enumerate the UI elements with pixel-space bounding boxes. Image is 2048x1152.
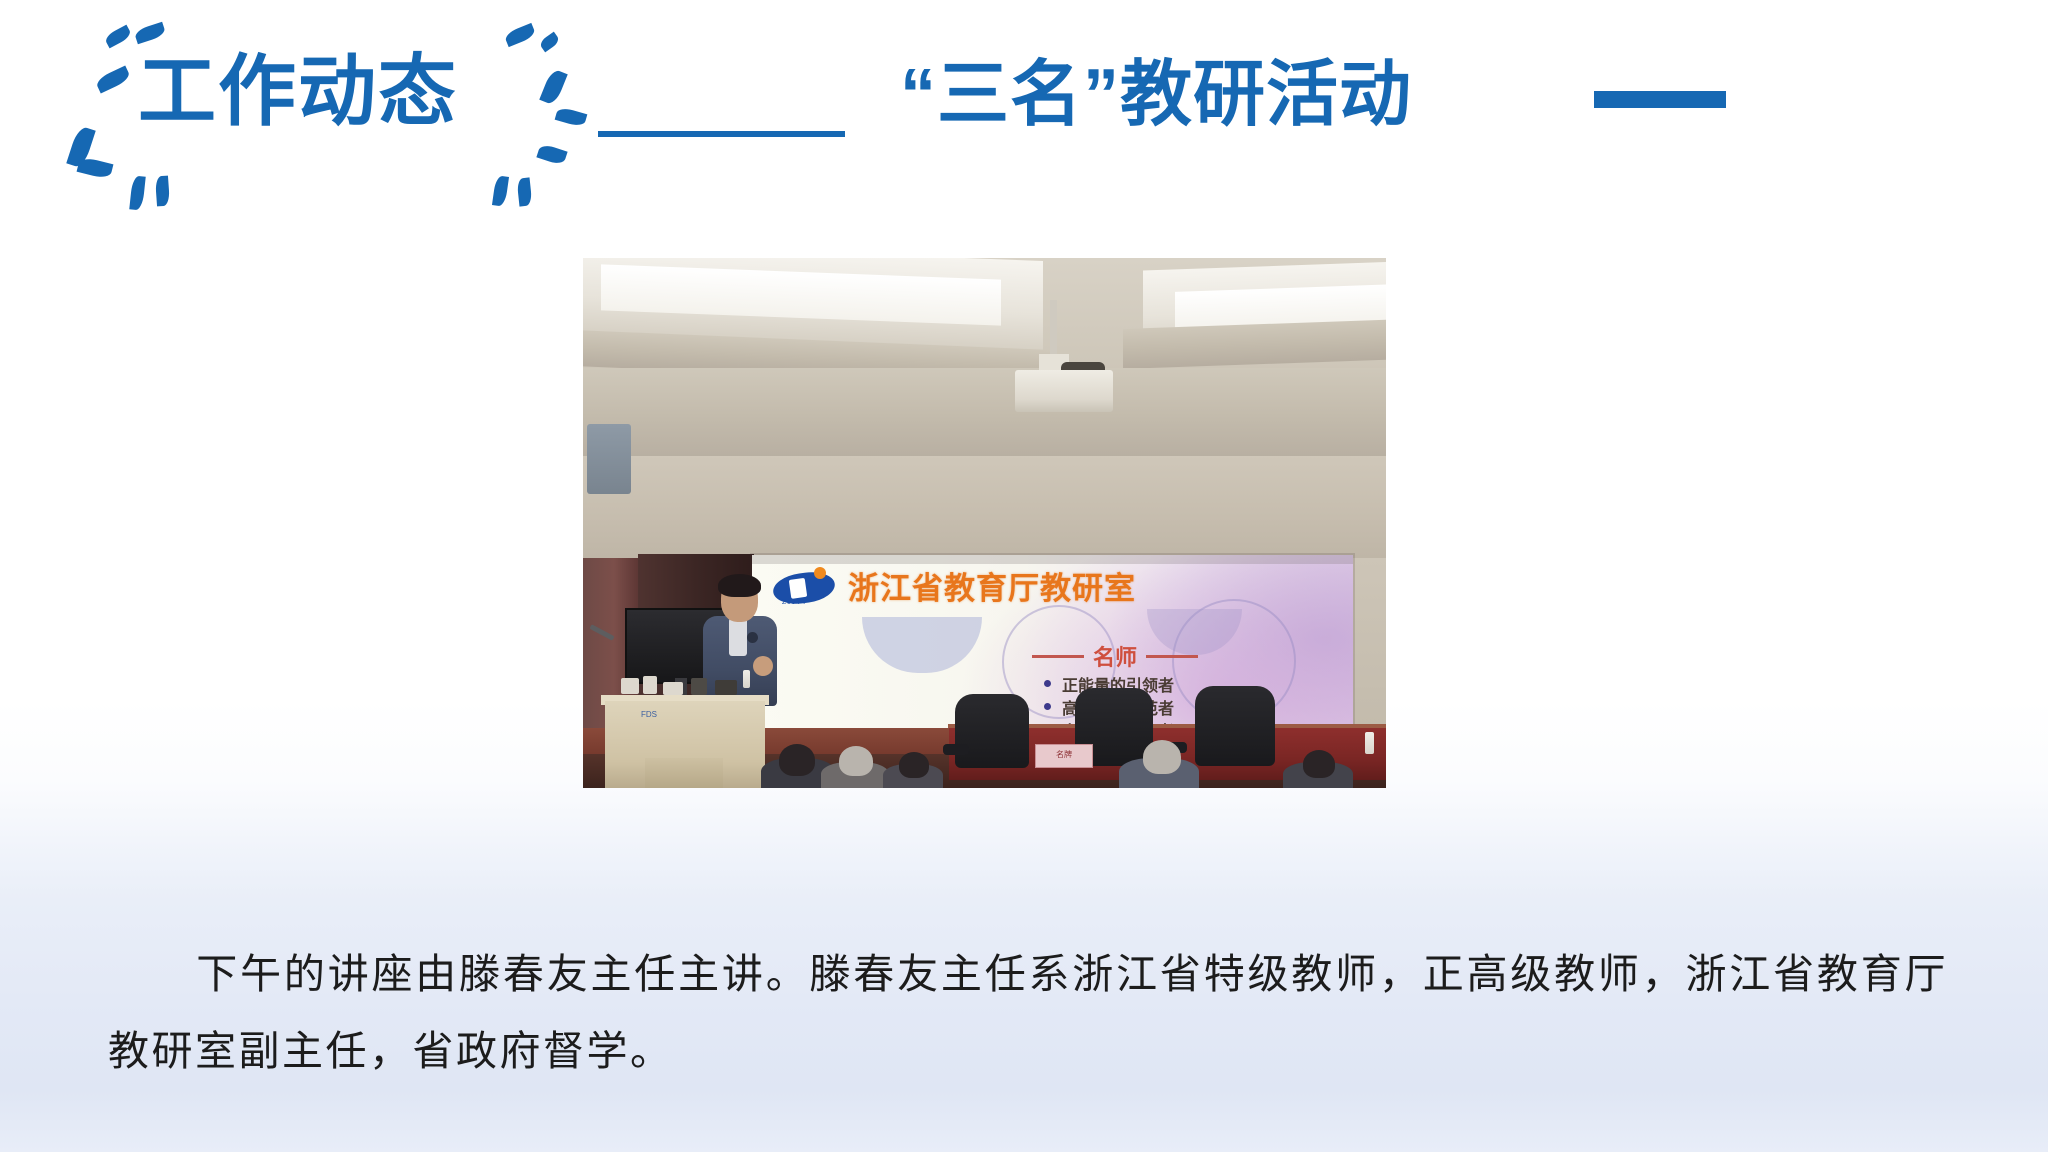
- slide-arc: [862, 617, 982, 673]
- presenter-hand: [753, 656, 773, 676]
- slide-title-rule-left: [1032, 655, 1084, 658]
- chair: [955, 694, 1029, 768]
- title-rule: [598, 131, 845, 137]
- audience-member: [899, 752, 929, 778]
- nameplate-text: 名牌: [1036, 749, 1092, 760]
- lecture-photo: ZJJYT 浙江省教育厅教研室 名师 正能量的引领者 高素养的示范者: [583, 258, 1386, 788]
- bullet-icon: [1044, 680, 1051, 687]
- slide-canvas: 工作动态 “三名”教研活动: [0, 0, 2048, 1152]
- page-subtitle: “三名”教研活动: [900, 52, 1412, 138]
- presenter-shirt: [729, 618, 747, 656]
- audience-member: [1303, 750, 1335, 778]
- slide-header: 工作动态 “三名”教研活动: [0, 0, 2048, 200]
- body-paragraph: 下午的讲座由滕春友主任主讲。滕春友主任系浙江省特级教师，正高级教师，浙江省教育厅…: [108, 936, 1948, 1090]
- water-bottle: [743, 670, 750, 688]
- page-title: 工作动态: [138, 46, 458, 136]
- slide-organization-title: 浙江省教育厅教研室: [848, 572, 1136, 606]
- wall-speaker: [587, 424, 631, 494]
- lectern-base: [645, 758, 723, 788]
- projector-body: [1015, 370, 1113, 412]
- presenter: [701, 578, 779, 703]
- slide-title-text: 名师: [1093, 640, 1137, 672]
- presenter-hair: [718, 574, 761, 597]
- audience-member: [839, 746, 873, 776]
- slide-section-title: 名师: [1032, 640, 1198, 672]
- desk-item: [621, 678, 639, 694]
- nameplate: 名牌: [1035, 744, 1093, 768]
- audience-member: [1143, 740, 1181, 774]
- projector-arm: [1050, 300, 1057, 358]
- ceiling-beam-main: [583, 368, 1386, 464]
- logo-subtext: ZJJYT: [782, 599, 807, 606]
- logo-spark-icon: [814, 567, 826, 579]
- lectern-logo: FDS: [641, 710, 657, 719]
- presenter-badge: [747, 632, 758, 643]
- desk-item: [691, 678, 707, 695]
- slide-title-rule-right: [1146, 655, 1198, 658]
- chair: [1195, 686, 1275, 766]
- bullet-icon: [1044, 703, 1051, 710]
- desk-item: [643, 676, 657, 694]
- desk-item: [663, 682, 683, 695]
- audience-member: [779, 744, 815, 776]
- desk-item: [715, 680, 737, 695]
- water-bottle: [1365, 732, 1374, 754]
- chair-arm: [943, 744, 969, 755]
- title-dash: [1594, 91, 1726, 108]
- screen-top-strip: [752, 555, 1353, 564]
- paragraph-text: 下午的讲座由滕春友主任主讲。滕春友主任系浙江省特级教师，正高级教师，浙江省教育厅…: [108, 950, 1948, 1075]
- upper-wall: [583, 456, 1386, 568]
